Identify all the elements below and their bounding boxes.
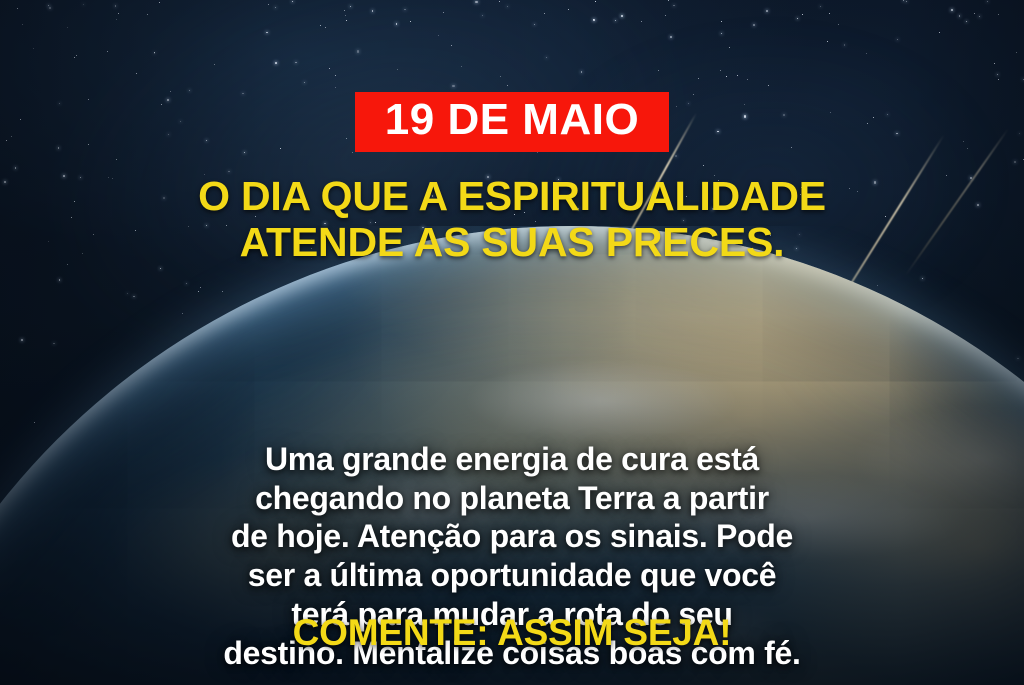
headline: O DIA QUE A ESPIRITUALIDADE ATENDE AS SU… bbox=[0, 174, 1024, 266]
headline-line-1: O DIA QUE A ESPIRITUALIDADE bbox=[24, 174, 1000, 220]
date-banner: 19 DE MAIO bbox=[355, 92, 669, 152]
headline-line-2: ATENDE AS SUAS PRECES. bbox=[24, 220, 1000, 266]
body-line-3: de hoje. Atenção para os sinais. Pode bbox=[52, 517, 972, 556]
body-line-2: chegando no planeta Terra a partir bbox=[52, 479, 972, 518]
body-line-4: ser a última oportunidade que você bbox=[52, 556, 972, 595]
call-to-action: COMENTE: ASSIM SEJA! bbox=[0, 612, 1024, 654]
date-banner-label: 19 DE MAIO bbox=[385, 98, 639, 142]
body-line-1: Uma grande energia de cura está bbox=[52, 440, 972, 479]
poster: 19 DE MAIO O DIA QUE A ESPIRITUALIDADE A… bbox=[0, 0, 1024, 685]
poster-content: 19 DE MAIO O DIA QUE A ESPIRITUALIDADE A… bbox=[0, 0, 1024, 685]
